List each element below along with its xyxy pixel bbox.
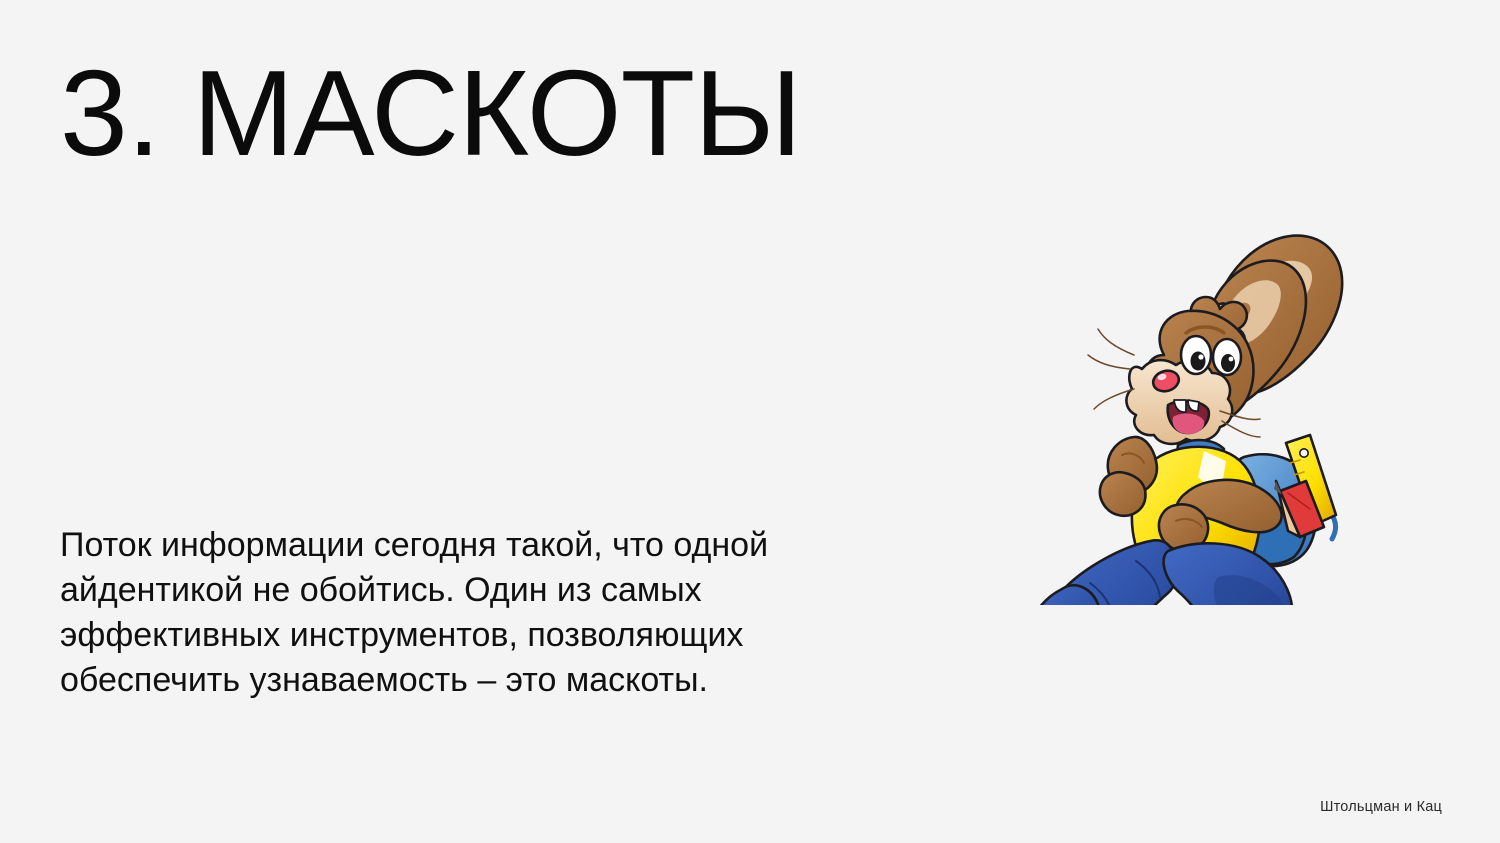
- slide-footer-credit: Штольцман и Кац: [1320, 799, 1442, 815]
- slide-body-text: Поток информации сегодня такой, что одно…: [60, 523, 880, 703]
- page-title: 3. МАСКОТЫ: [60, 52, 801, 174]
- rabbit-mascot-illustration: [1018, 205, 1358, 605]
- presentation-slide: 3. МАСКОТЫ Поток информации сегодня тако…: [0, 0, 1500, 843]
- rabbit-head: [1088, 311, 1260, 444]
